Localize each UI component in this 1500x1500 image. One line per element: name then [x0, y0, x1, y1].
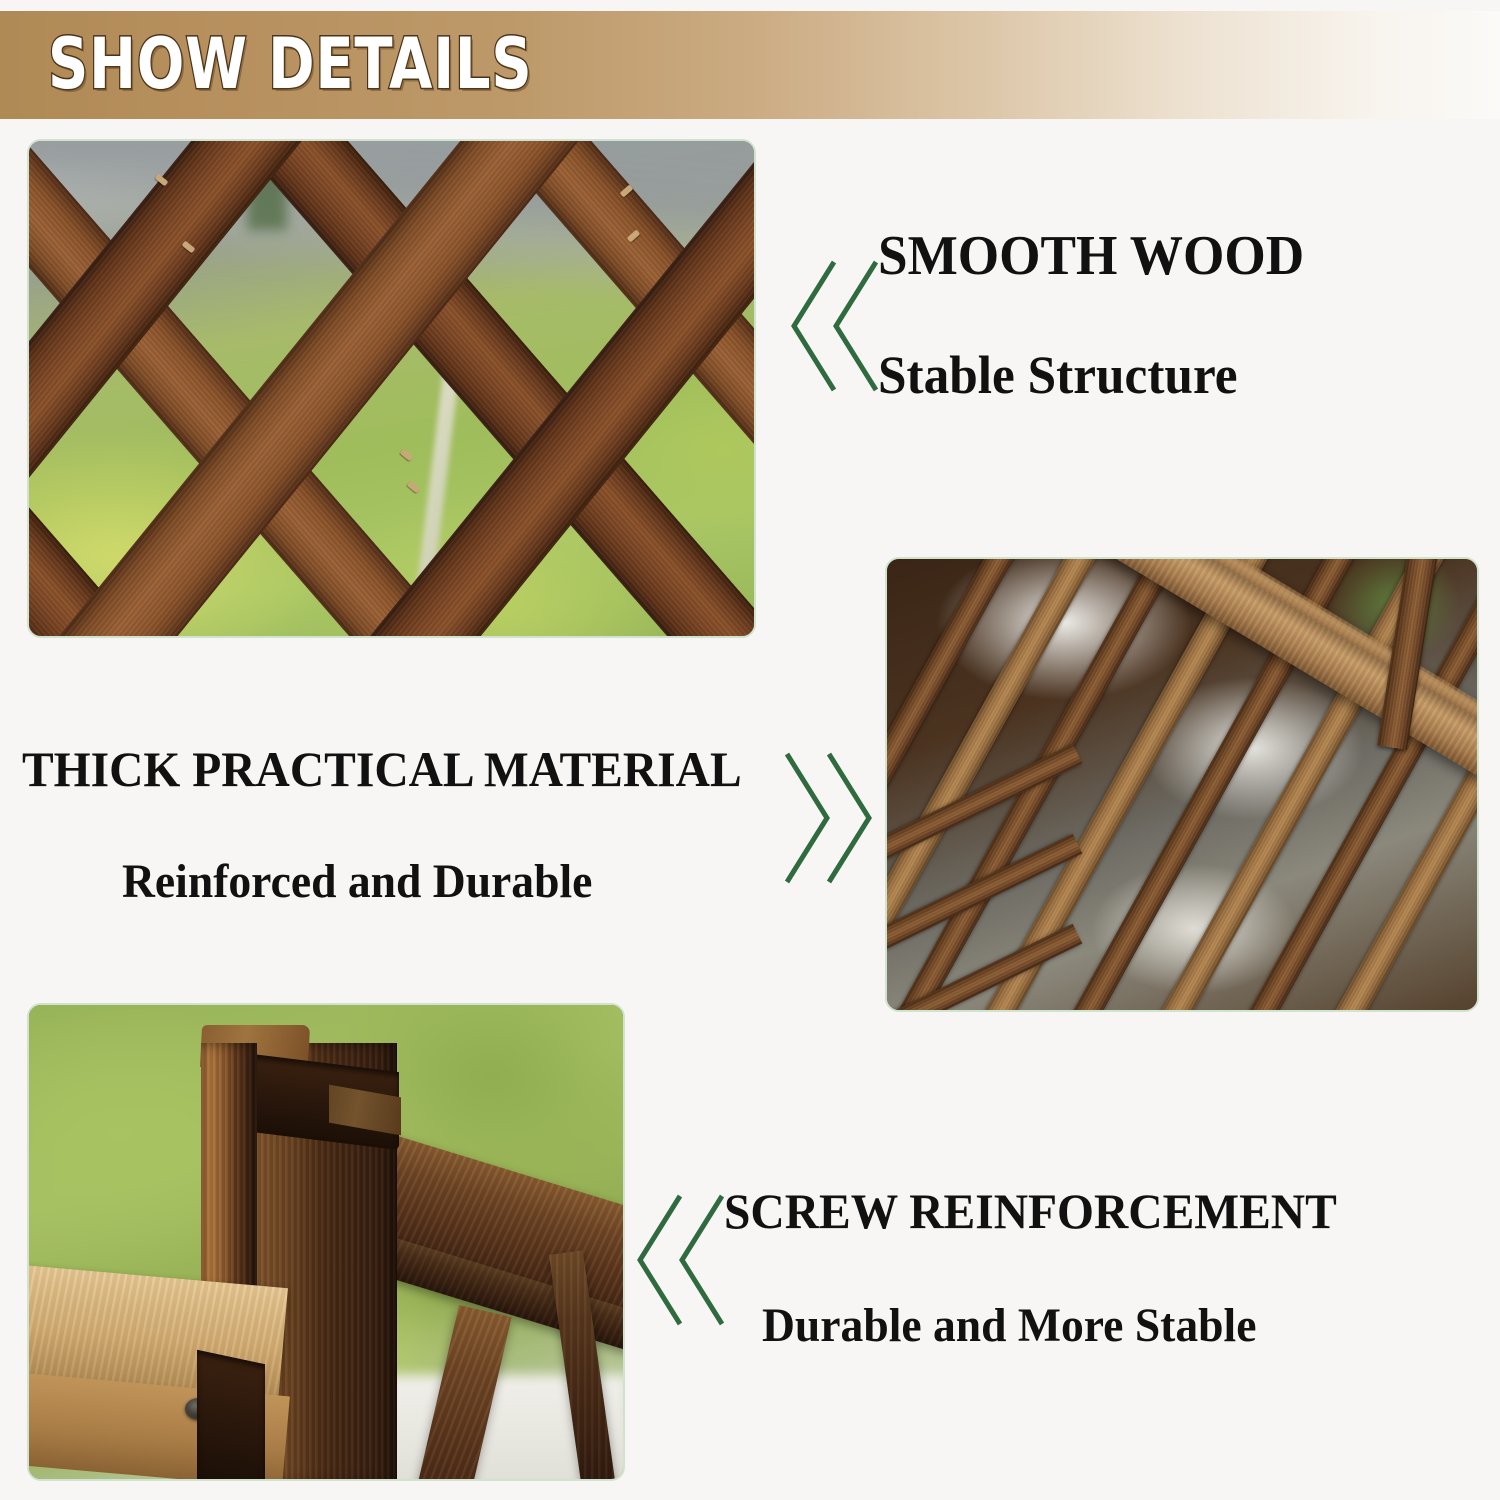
product-detail-infographic: SHOW DETAILS [0, 0, 1500, 1500]
chevron-double-left-icon [634, 1190, 734, 1330]
feature-text-smooth-wood: SMOOTH WOOD Stable Structure [878, 226, 1478, 405]
photo-inner [29, 1005, 623, 1479]
banner-title: SHOW DETAILS [48, 27, 532, 101]
feature-headline: SMOOTH WOOD [878, 226, 1448, 286]
screw-joint-photo [27, 1003, 625, 1481]
feature-text-thick-material: THICK PRACTICAL MATERIAL Reinforced and … [22, 742, 782, 908]
feature-text-screw-reinforcement: SCREW REINFORCEMENT Durable and More Sta… [724, 1184, 1494, 1352]
feature-subline: Reinforced and Durable [122, 856, 749, 908]
wood-lattice-closeup-photo [27, 139, 756, 638]
dense-lattice-photo [885, 557, 1479, 1012]
feature-headline: THICK PRACTICAL MATERIAL [22, 742, 744, 796]
feature-subline: Stable Structure [878, 346, 1448, 404]
chevron-double-right-icon [775, 748, 875, 888]
photo-inner [29, 141, 754, 636]
post-shadow [197, 1350, 265, 1479]
feature-headline: SCREW REINFORCEMENT [724, 1184, 1456, 1238]
photo-inner [887, 559, 1477, 1010]
chevron-double-left-icon [788, 256, 888, 396]
feature-subline: Durable and More Stable [762, 1300, 1457, 1352]
banner-inner: SHOW DETAILS [0, 15, 1500, 115]
show-details-banner: SHOW DETAILS [0, 11, 1500, 119]
